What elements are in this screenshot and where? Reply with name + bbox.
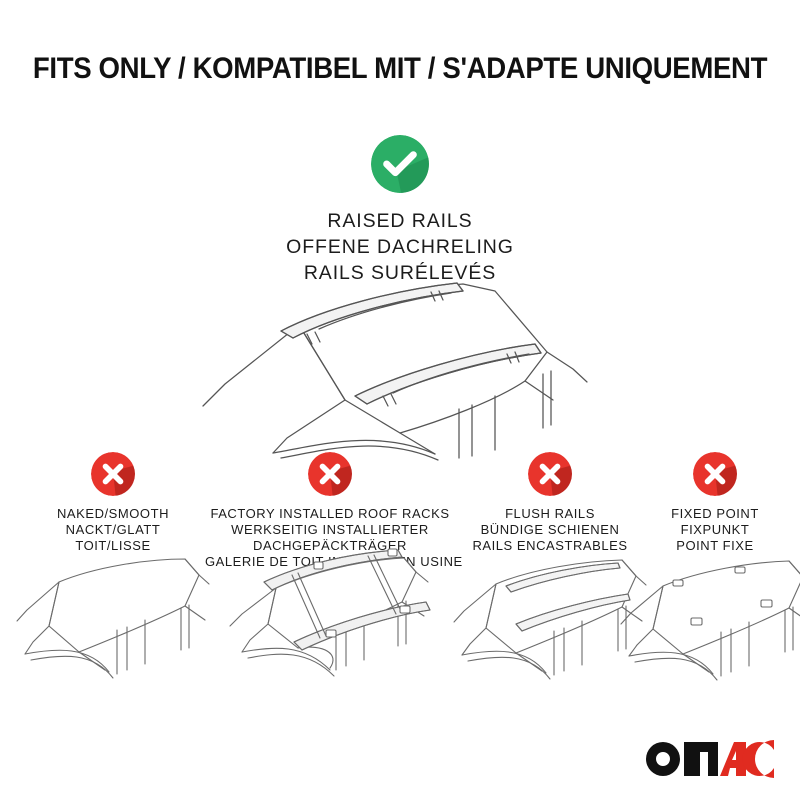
incompatible-item-factory: FACTORY INSTALLED ROOF RACKS WERKSEITIG … <box>205 452 455 569</box>
incompatible-labels-flush: FLUSH RAILS BÜNDIGE SCHIENEN RAILS ENCAS… <box>452 506 648 554</box>
incompatible-labels-naked: NAKED/SMOOTH NACKT/GLATT TOIT/LISSE <box>13 506 213 554</box>
car-roof-with-raised-rails-illustration <box>195 278 605 463</box>
compatible-section: RAISED RAILS OFFENE DACHRELING RAILS SUR… <box>0 135 800 287</box>
car-roof-with-fixed-points-illustration <box>619 556 800 686</box>
incompatible-labels-fixed: FIXED POINT FIXPUNKT POINT FIXE <box>640 506 790 554</box>
page-title: FITS ONLY / KOMPATIBEL MIT / S'ADAPTE UN… <box>33 52 767 86</box>
label-fixed-en: FIXED POINT <box>640 506 790 522</box>
label-naked-fr: TOIT/LISSE <box>13 538 213 554</box>
incompatible-item-naked: NAKED/SMOOTH NACKT/GLATT TOIT/LISSE <box>13 452 213 554</box>
label-fixed-fr: POINT FIXE <box>640 538 790 554</box>
cross-circle-icon <box>308 452 352 496</box>
incompatible-item-fixed: FIXED POINT FIXPUNKT POINT FIXE <box>640 452 790 554</box>
car-roof-bare-illustration <box>13 556 213 686</box>
label-factory-de-1: WERKSEITIG INSTALLIERTER <box>205 522 455 538</box>
compatible-label-de: OFFENE DACHRELING <box>0 235 800 261</box>
label-flush-en: FLUSH RAILS <box>452 506 648 522</box>
compatible-labels: RAISED RAILS OFFENE DACHRELING RAILS SUR… <box>0 209 800 287</box>
label-naked-en: NAKED/SMOOTH <box>13 506 213 522</box>
label-naked-de: NACKT/GLATT <box>13 522 213 538</box>
car-roof-with-factory-crossbars-illustration <box>220 544 440 686</box>
cross-circle-icon <box>528 452 572 496</box>
omac-logo <box>644 740 776 778</box>
label-factory-en: FACTORY INSTALLED ROOF RACKS <box>205 506 455 522</box>
incompatible-section: NAKED/SMOOTH NACKT/GLATT TOIT/LISSE <box>0 452 800 702</box>
header: FITS ONLY / KOMPATIBEL MIT / S'ADAPTE UN… <box>0 52 800 86</box>
incompatible-item-flush: FLUSH RAILS BÜNDIGE SCHIENEN RAILS ENCAS… <box>452 452 648 554</box>
compatible-label-en: RAISED RAILS <box>0 209 800 235</box>
label-flush-de: BÜNDIGE SCHIENEN <box>452 522 648 538</box>
label-fixed-de: FIXPUNKT <box>640 522 790 538</box>
check-circle-icon <box>371 135 429 193</box>
cross-circle-icon <box>693 452 737 496</box>
cross-circle-icon <box>91 452 135 496</box>
label-flush-fr: RAILS ENCASTRABLES <box>452 538 648 554</box>
